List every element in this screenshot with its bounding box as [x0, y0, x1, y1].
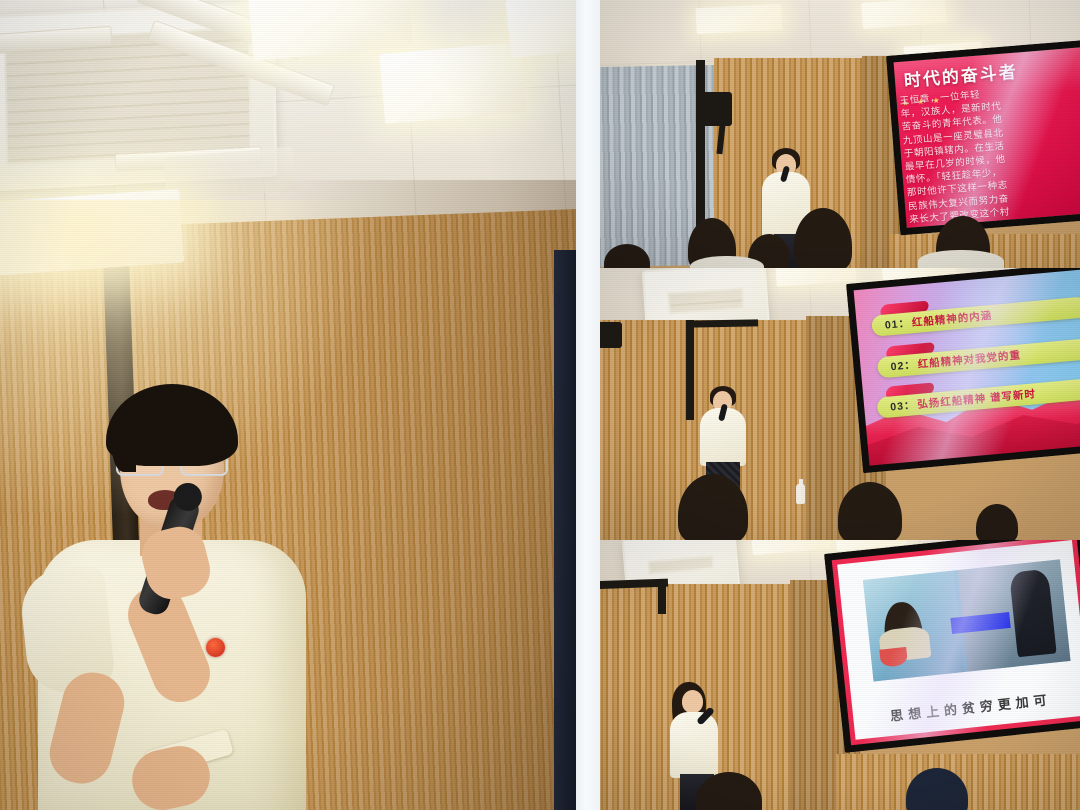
speaker-hair	[106, 384, 238, 466]
audience-head	[838, 482, 902, 540]
presentation-screen: 01： 红船精神的内涵 02： 红船精神对我党的重 03： 弘扬红船精神 谱写新…	[846, 268, 1080, 473]
main-speaker-photo	[0, 0, 576, 810]
speaker-figure	[28, 372, 328, 810]
audience-shoulder	[918, 250, 1004, 268]
red-slide-photo: 时代的奋斗者 ★ ★ ★ 王恒章，一位年轻年，汉族人，是新时代苦奋斗的青年代表。…	[600, 0, 1080, 268]
speaker-box-icon	[600, 322, 622, 348]
screen-bezel	[846, 268, 1080, 473]
water-bottle-icon	[796, 484, 805, 504]
screen-bezel	[824, 540, 1080, 753]
photo-edge-frame	[554, 250, 576, 810]
presenter-head	[682, 690, 703, 713]
ceiling-light-panel	[695, 4, 782, 34]
photo-collage: 时代的奋斗者 ★ ★ ★ 王恒章，一位年轻年，汉族人，是新时代苦奋斗的青年代表。…	[0, 0, 1080, 810]
speaker-box-icon	[700, 92, 732, 126]
wall-column	[686, 320, 694, 420]
presenter-blouse	[670, 712, 718, 778]
ceiling-light-panel	[505, 0, 576, 58]
poverty-slide-photo: 思想上的贫穷更加可	[600, 540, 1080, 810]
ceiling-light-panel	[379, 42, 527, 124]
wall-trim	[688, 319, 758, 327]
lapel-badge	[206, 638, 225, 657]
presentation-screen: 思想上的贫穷更加可	[824, 540, 1080, 753]
ceiling-light-panel	[0, 189, 184, 277]
presentation-screen: 时代的奋斗者 ★ ★ ★ 王恒章，一位年轻年，汉族人，是新时代苦奋斗的青年代表。…	[886, 39, 1080, 236]
agenda-slide-photo: 01： 红船精神的内涵 02： 红船精神对我党的重 03： 弘扬红船精神 谱写新…	[600, 268, 1080, 540]
audience-head	[976, 504, 1018, 540]
collage-gutter	[576, 0, 600, 810]
screen-bezel	[886, 39, 1080, 236]
